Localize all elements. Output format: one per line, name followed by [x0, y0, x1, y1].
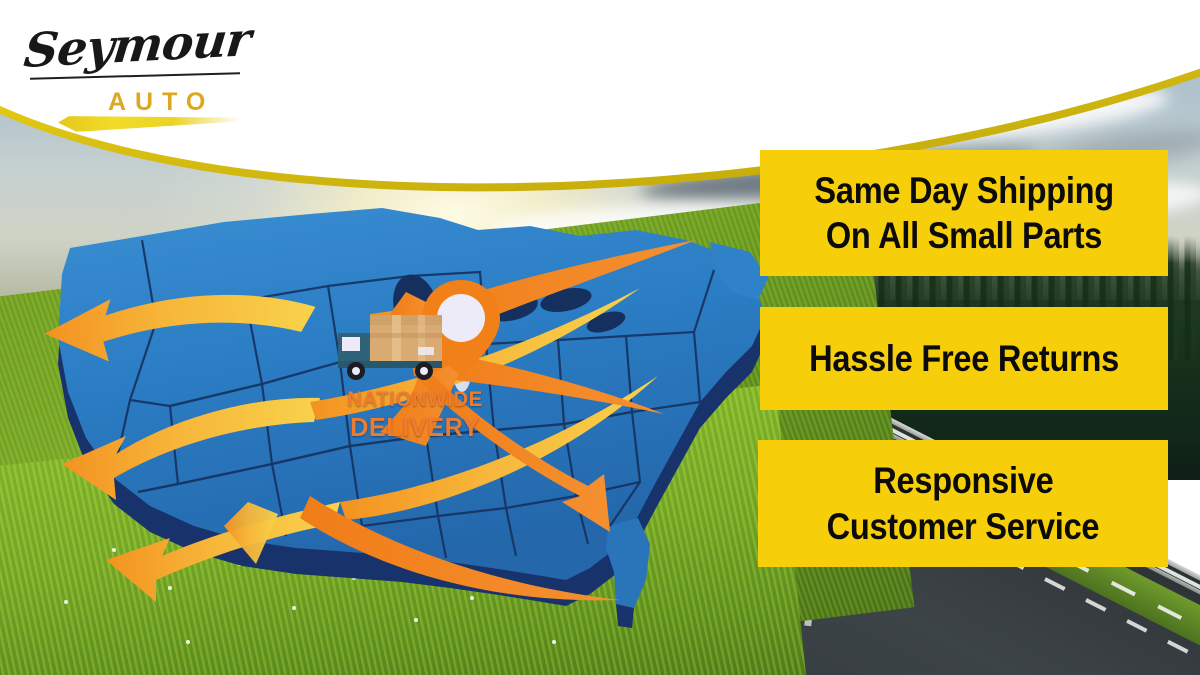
logo-script-text: Seymour	[19, 12, 259, 100]
seymour-auto-logo[interactable]: Seymour AUTO	[24, 18, 254, 126]
feature-line-1: Responsive	[873, 458, 1053, 503]
wildflower	[552, 640, 556, 644]
promo-banner: Seymour AUTO	[0, 0, 1200, 675]
map-florida-edge	[616, 604, 634, 628]
feature-line-2: On All Small Parts	[826, 213, 1102, 258]
wildflower	[186, 640, 190, 644]
badge-line-1: NATIONWIDE	[323, 388, 507, 412]
feature-box-hassle-free-returns[interactable]: Hassle Free Returns	[760, 307, 1168, 410]
feature-line-1: Hassle Free Returns	[809, 336, 1119, 381]
nationwide-delivery-badge: NATIONWIDE DELIVERY	[320, 278, 510, 448]
feature-line-1: Same Day Shipping	[814, 168, 1113, 213]
feature-box-same-day-shipping[interactable]: Same Day Shipping On All Small Parts	[760, 150, 1168, 276]
logo-auto-text: AUTO	[108, 88, 214, 117]
delivery-truck-icon	[332, 303, 462, 383]
feature-box-responsive-customer-service[interactable]: Responsive Customer Service	[758, 440, 1168, 567]
map-florida	[606, 518, 650, 608]
badge-line-2: DELIVERY	[323, 412, 507, 443]
feature-line-2: Customer Service	[827, 504, 1100, 549]
